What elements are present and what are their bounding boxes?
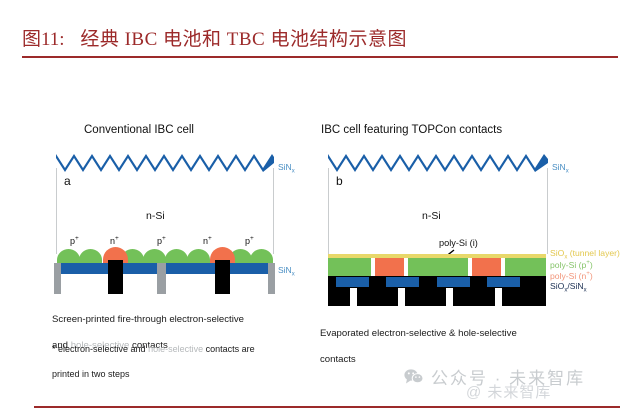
title-divider: [22, 56, 618, 58]
poly-si-i-gap: [404, 258, 408, 276]
legend-polysi-n: poly-Si (n+): [550, 270, 593, 281]
panel-left-title: Conventional IBC cell: [84, 124, 194, 136]
poly-si-n-segment: [375, 258, 404, 276]
figure-title-text: 经典 IBC 电池和 TBC 电池结构示意图: [80, 29, 407, 50]
panel-conventional-ibc: Conventional IBC cell SiNx a n-Si p+ n+ …: [40, 62, 300, 342]
black-metal-finger: [215, 260, 230, 294]
metal-pad: [336, 277, 369, 287]
report-header: 图11: 经典 IBC 电池和 TBC 电池结构示意图: [0, 0, 640, 62]
caption-note-left: * electron-selective and hole-selective …: [52, 330, 302, 380]
panel-right-title: IBC cell featuring TOPCon contacts: [321, 124, 502, 136]
dopant-label-p3: p+: [245, 235, 254, 246]
poly-si-i-gap: [501, 258, 505, 276]
dielectric-gap: [446, 288, 453, 306]
dopant-label-p1: p+: [70, 235, 79, 246]
watermark-ghost-text: @ 未来智库: [466, 381, 551, 402]
dopant-label-p2: p+: [157, 235, 166, 246]
metal-pad: [487, 277, 520, 287]
sinx-front-label-right: SiNx: [552, 162, 569, 175]
poly-si-p-layer: [328, 258, 546, 276]
dielectric-gap: [398, 288, 405, 306]
figure-canvas: Conventional IBC cell SiNx a n-Si p+ n+ …: [0, 62, 640, 395]
dielectric-gap: [495, 288, 502, 306]
wechat-icon: [404, 368, 424, 385]
dielectric-layer: [328, 288, 546, 306]
gray-metal-finger: [268, 263, 275, 294]
panel-letter-a: a: [64, 174, 71, 188]
bulk-label-left: n-Si: [146, 210, 165, 222]
legend-sio-sin: SiOx/SiNx: [550, 281, 587, 294]
metal-pad: [437, 277, 470, 287]
gray-metal-finger: [54, 263, 61, 294]
panel-topcon-ibc: IBC cell featuring TOPCon contacts SiNx …: [318, 62, 640, 342]
panel-letter-b: b: [336, 174, 343, 188]
page-title: 图11: 经典 IBC 电池和 TBC 电池结构示意图: [22, 24, 407, 51]
poly-si-n-segment: [472, 258, 501, 276]
figure-number: 图11:: [22, 29, 65, 50]
caption-right: Evaporated electron-selective & hole-sel…: [320, 314, 590, 366]
polysi-i-callout-label: poly-Si (i): [439, 238, 478, 248]
bulk-label-right: n-Si: [422, 210, 441, 222]
sinx-front-texture-left: [55, 150, 275, 172]
metal-pad: [386, 277, 419, 287]
sinx-front-texture-right: [327, 150, 549, 172]
dielectric-gap: [350, 288, 357, 306]
rear-sinx-bar: [57, 263, 157, 274]
black-metal-finger: [108, 260, 123, 294]
dopant-label-n1: n+: [110, 235, 119, 246]
legend-polysi-p: poly-Si (p+): [550, 259, 593, 270]
footer-divider: [34, 406, 620, 408]
sinx-rear-label-left: SiNx: [278, 265, 295, 278]
gray-metal-finger: [157, 263, 166, 294]
sinx-front-label-left: SiNx: [278, 162, 295, 175]
dopant-label-n2: n+: [203, 235, 212, 246]
